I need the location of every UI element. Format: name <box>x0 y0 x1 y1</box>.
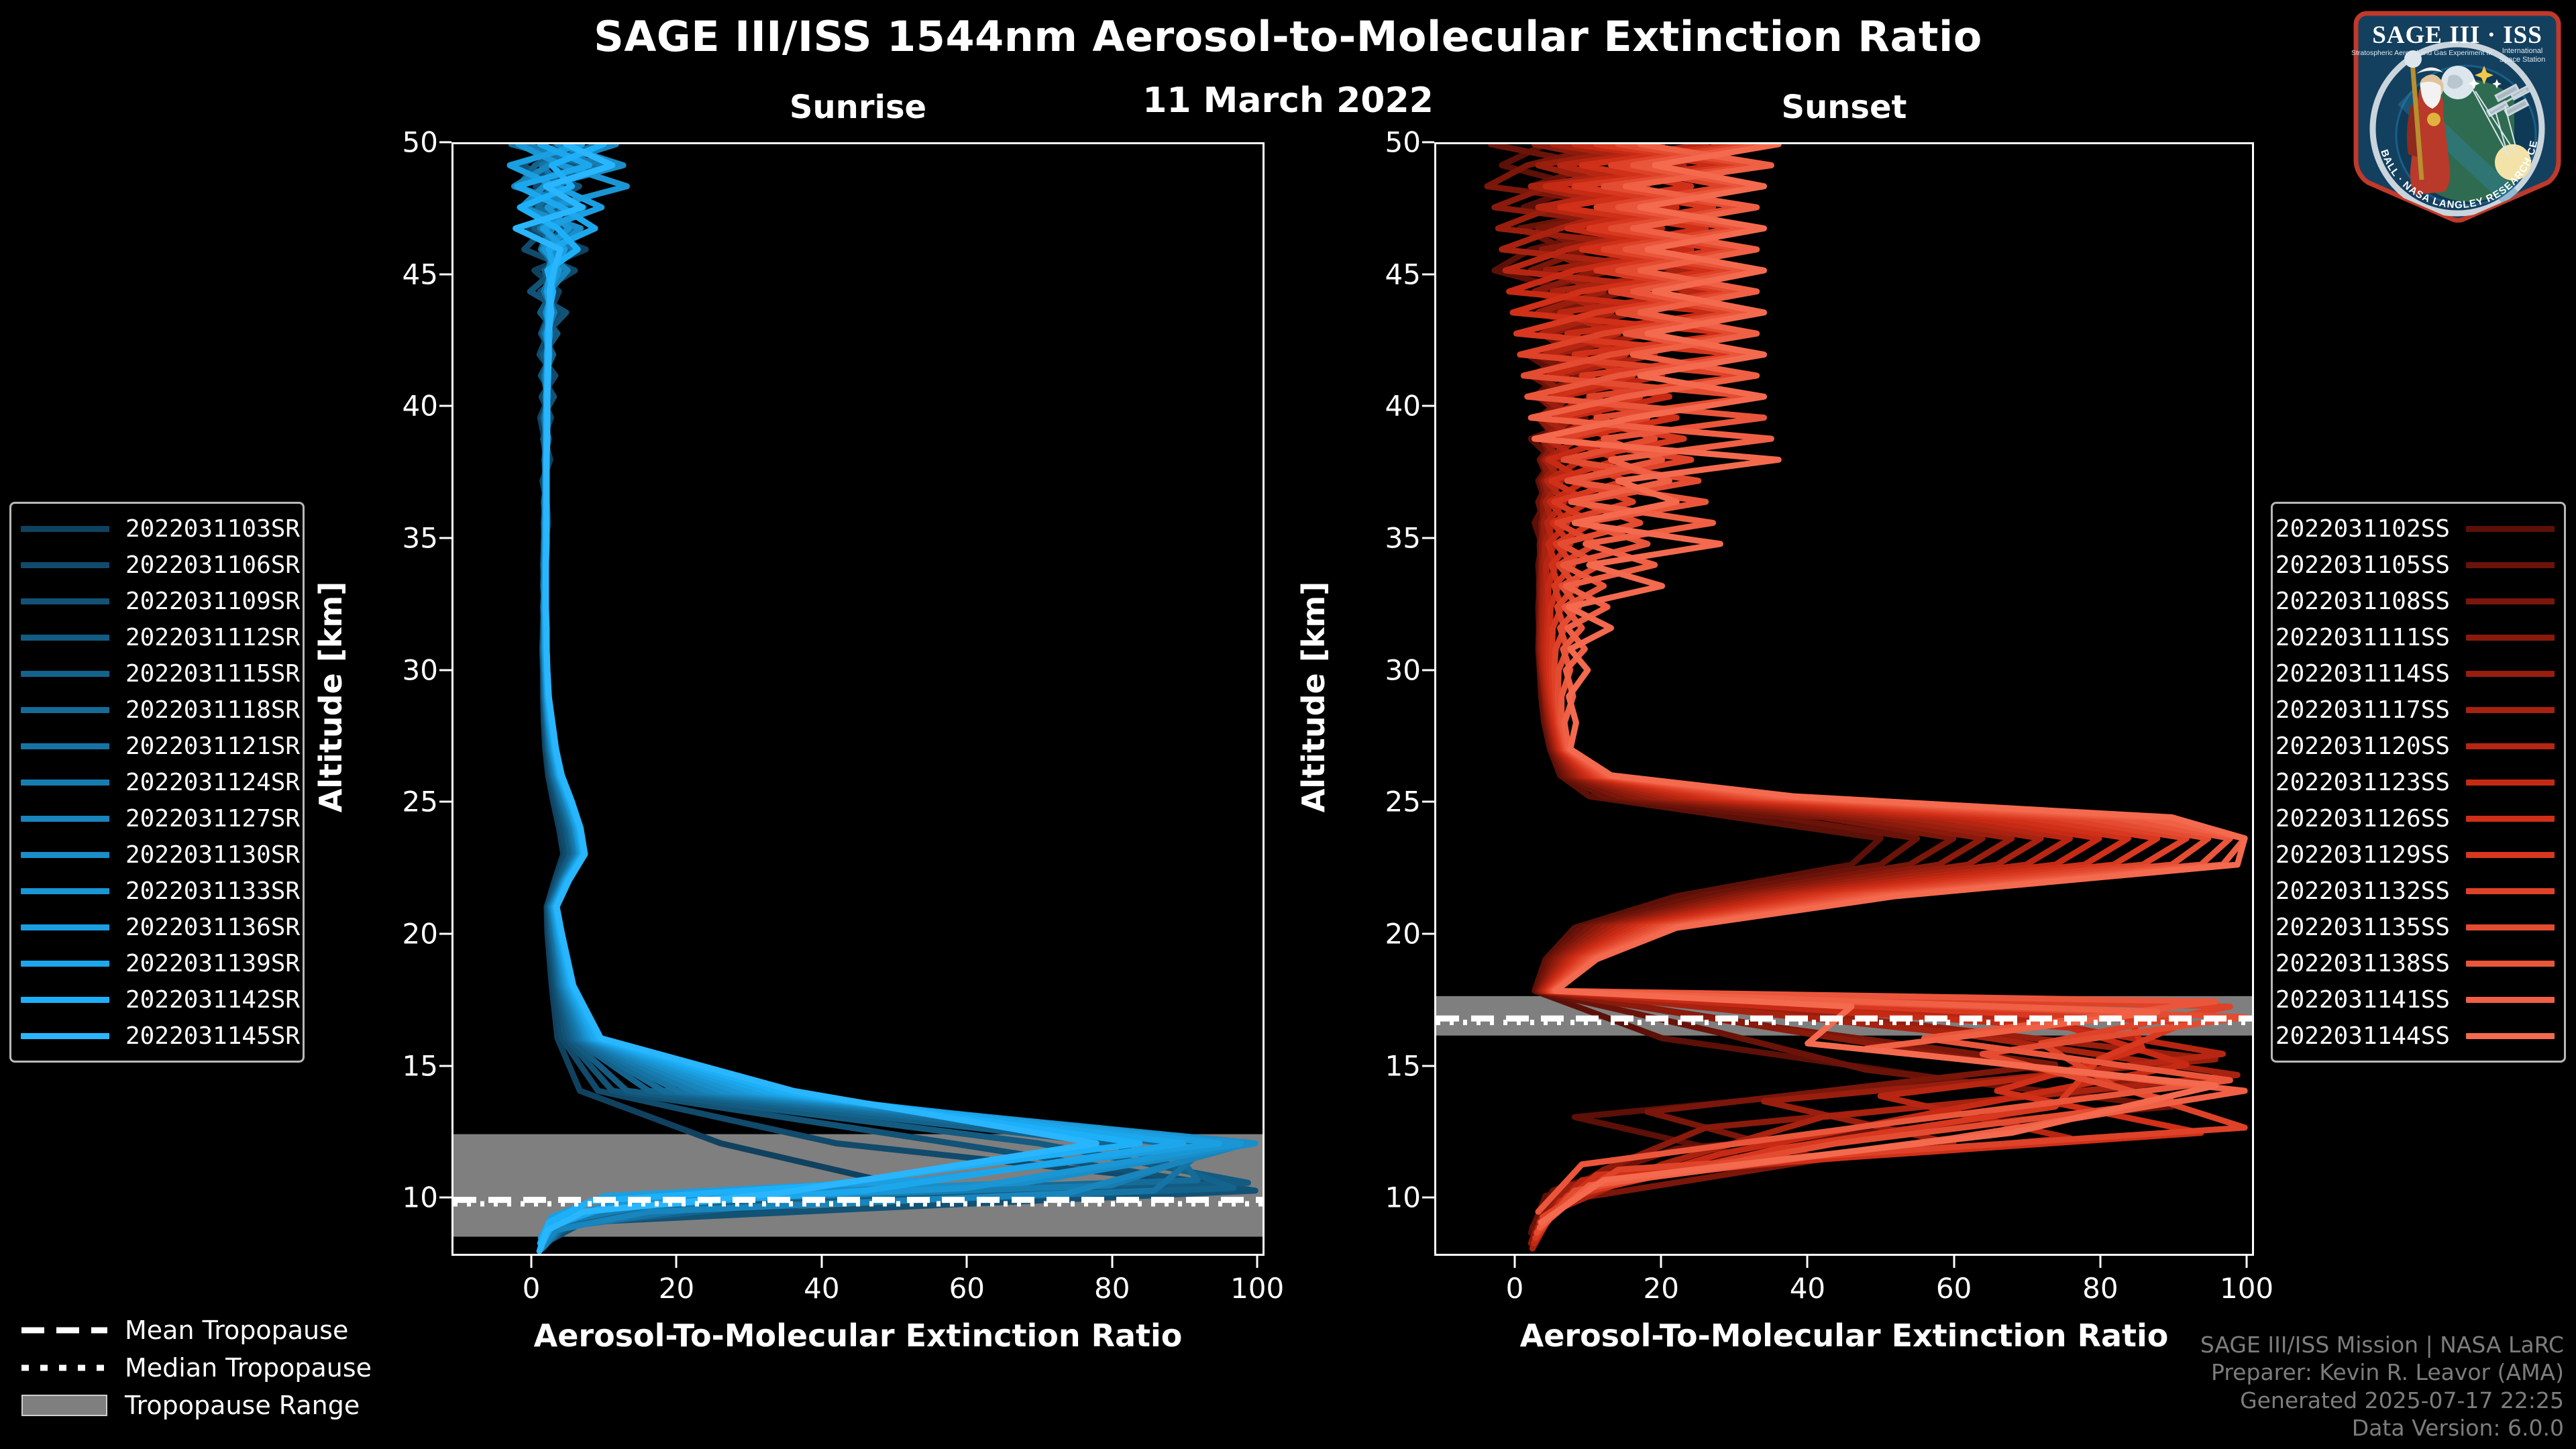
legend-label-2022031109SR: 2022031109SR <box>125 588 300 615</box>
plot-area-sunset <box>1434 142 2254 1256</box>
y-tick-label-sunset-15: 15 <box>1347 1049 1421 1082</box>
x-tick-label-sunrise-20: 20 <box>629 1272 723 1305</box>
x-tick-label-sunset-20: 20 <box>1614 1272 1708 1305</box>
y-axis-label-sunrise: Altitude [km] <box>313 556 349 838</box>
x-tick-label-sunrise-100: 100 <box>1210 1272 1304 1305</box>
legend-item-2022031120SS[interactable]: 2022031120SS <box>2282 728 2555 764</box>
y-tick-label-sunset-25: 25 <box>1347 786 1421 818</box>
legend-swatch-2022031117SS <box>2466 707 2555 713</box>
x-tick-mark-sunrise-100 <box>1256 1256 1258 1268</box>
legend-label-2022031142SR: 2022031142SR <box>125 986 300 1014</box>
profile-line-2022031118SR <box>511 144 1197 1238</box>
y-axis-label-sunset: Altitude [km] <box>1295 556 1332 838</box>
credits-line-version: Data Version: 6.0.0 <box>2200 1414 2564 1442</box>
y-tick-mark-sunset-10 <box>1422 1197 1434 1199</box>
x-tick-label-sunset-100: 100 <box>2200 1272 2294 1305</box>
legend-swatch-2022031133SR <box>21 888 109 894</box>
median-tropopause-label: Median Tropopause <box>125 1353 372 1383</box>
legend-item-2022031118SR[interactable]: 2022031118SR <box>21 692 293 728</box>
legend-item-2022031123SS[interactable]: 2022031123SS <box>2282 764 2555 800</box>
x-axis-label-sunrise: Aerosol-To-Molecular Extinction Ratio <box>451 1318 1265 1354</box>
y-tick-label-sunset-50: 50 <box>1347 126 1421 159</box>
median-tropopause-line-icon <box>21 1359 107 1377</box>
tropopause-legend: Mean Tropopause Median Tropopause Tropop… <box>13 1311 372 1424</box>
legend-swatch-2022031145SR <box>21 1033 109 1039</box>
y-tick-label-sunset-35: 35 <box>1347 522 1421 555</box>
legend-item-2022031124SR[interactable]: 2022031124SR <box>21 764 293 800</box>
x-axis-label-sunset: Aerosol-To-Molecular Extinction Ratio <box>1434 1318 2254 1354</box>
legend-item-2022031129SS[interactable]: 2022031129SS <box>2282 837 2555 873</box>
credits-line-mission: SAGE III/ISS Mission | NASA LaRC <box>2200 1331 2564 1359</box>
y-tick-label-sunrise-40: 40 <box>364 390 438 423</box>
x-tick-mark-sunset-40 <box>1807 1256 1809 1268</box>
legend-label-2022031108SS: 2022031108SS <box>2275 588 2450 615</box>
panel-title-sunrise: Sunrise <box>451 89 1265 126</box>
legend-swatch-2022031127SR <box>21 816 109 822</box>
legend-swatch-2022031126SS <box>2466 816 2555 822</box>
x-tick-label-sunrise-0: 0 <box>484 1272 578 1305</box>
mean-tropopause-label: Mean Tropopause <box>125 1316 348 1345</box>
y-tick-label-sunrise-15: 15 <box>364 1049 438 1082</box>
legend-item-2022031108SS[interactable]: 2022031108SS <box>2282 583 2555 619</box>
legend-label-2022031135SS: 2022031135SS <box>2275 914 2450 941</box>
y-tick-label-sunrise-20: 20 <box>364 918 438 951</box>
y-tick-label-sunrise-25: 25 <box>364 786 438 818</box>
legend-sunset[interactable]: 2022031102SS2022031105SS2022031108SS2022… <box>2271 502 2566 1063</box>
legend-swatch-2022031106SR <box>21 562 109 568</box>
x-tick-mark-sunrise-0 <box>531 1256 533 1268</box>
legend-swatch-2022031112SR <box>21 635 109 641</box>
legend-label-2022031103SR: 2022031103SR <box>125 515 300 543</box>
legend-item-2022031102SS[interactable]: 2022031102SS <box>2282 511 2555 547</box>
legend-item-2022031117SS[interactable]: 2022031117SS <box>2282 692 2555 728</box>
profile-line-2022031145SR <box>516 144 1097 1251</box>
y-tick-mark-sunset-15 <box>1422 1065 1434 1067</box>
legend-swatch-2022031132SS <box>2466 888 2555 894</box>
y-tick-mark-sunset-40 <box>1422 405 1434 407</box>
panel-title-sunset: Sunset <box>1434 89 2254 126</box>
legend-label-2022031117SS: 2022031117SS <box>2275 696 2450 724</box>
y-tick-mark-sunrise-35 <box>439 537 451 539</box>
legend-swatch-2022031115SR <box>21 671 109 677</box>
legend-item-2022031144SS[interactable]: 2022031144SS <box>2282 1018 2555 1054</box>
y-tick-mark-sunrise-30 <box>439 669 451 671</box>
legend-label-2022031144SS: 2022031144SS <box>2275 1022 2450 1050</box>
y-tick-label-sunset-40: 40 <box>1347 390 1421 423</box>
legend-label-2022031106SR: 2022031106SR <box>125 551 300 579</box>
y-tick-mark-sunset-45 <box>1422 273 1434 275</box>
y-tick-mark-sunrise-40 <box>439 405 451 407</box>
legend-swatch-2022031105SS <box>2466 562 2555 568</box>
legend-swatch-2022031130SR <box>21 852 109 858</box>
legend-item-2022031105SS[interactable]: 2022031105SS <box>2282 547 2555 583</box>
y-tick-label-sunset-10: 10 <box>1347 1181 1421 1214</box>
tropopause-range-swatch-icon <box>21 1395 107 1416</box>
legend-label-2022031138SS: 2022031138SS <box>2275 950 2450 977</box>
legend-swatch-2022031135SS <box>2466 924 2555 930</box>
legend-item-2022031141SS[interactable]: 2022031141SS <box>2282 981 2555 1018</box>
y-tick-label-sunrise-10: 10 <box>364 1181 438 1214</box>
legend-label-2022031139SR: 2022031139SR <box>125 950 300 977</box>
legend-item-2022031112SR[interactable]: 2022031112SR <box>21 619 293 655</box>
credits-block: SAGE III/ISS Mission | NASA LaRC Prepare… <box>2200 1331 2564 1442</box>
legend-item-2022031138SS[interactable]: 2022031138SS <box>2282 945 2555 981</box>
legend-label-2022031111SS: 2022031111SS <box>2275 624 2450 651</box>
x-tick-mark-sunset-20 <box>1660 1256 1662 1268</box>
profile-line-2022031127SR <box>514 144 1248 1248</box>
legend-label-2022031129SS: 2022031129SS <box>2275 841 2450 869</box>
tropopause-range-label: Tropopause Range <box>125 1391 360 1420</box>
y-tick-mark-sunset-20 <box>1422 933 1434 935</box>
legend-label-2022031133SR: 2022031133SR <box>125 877 300 905</box>
tropopause-legend-median: Median Tropopause <box>13 1349 372 1387</box>
legend-label-2022031127SR: 2022031127SR <box>125 805 300 833</box>
legend-swatch-2022031123SS <box>2466 780 2555 786</box>
legend-swatch-2022031109SR <box>21 598 109 604</box>
legend-swatch-2022031121SR <box>21 743 109 749</box>
legend-item-2022031115SR[interactable]: 2022031115SR <box>21 655 293 692</box>
legend-label-2022031123SS: 2022031123SS <box>2275 769 2450 796</box>
legend-swatch-2022031139SR <box>21 961 109 967</box>
legend-item-2022031126SS[interactable]: 2022031126SS <box>2282 800 2555 837</box>
legend-swatch-2022031103SR <box>21 526 109 532</box>
legend-label-2022031132SS: 2022031132SS <box>2275 877 2450 905</box>
x-tick-mark-sunset-60 <box>1953 1256 1955 1268</box>
credits-line-generated: Generated 2025-07-17 22:25 <box>2200 1387 2564 1415</box>
mean-tropopause-line-icon <box>21 1322 107 1339</box>
profile-line-2022031133SR <box>519 144 1241 1246</box>
svg-text:International: International <box>2502 47 2543 55</box>
legend-item-2022031127SR[interactable]: 2022031127SR <box>21 800 293 837</box>
svg-text:Stratospheric Aerosol and Gas: Stratospheric Aerosol and Gas Experiment… <box>2351 49 2492 57</box>
y-tick-mark-sunrise-20 <box>439 933 451 935</box>
x-tick-mark-sunrise-80 <box>1111 1256 1113 1268</box>
legend-label-2022031120SS: 2022031120SS <box>2275 733 2450 760</box>
legend-swatch-2022031136SR <box>21 924 109 930</box>
legend-label-2022031126SS: 2022031126SS <box>2275 805 2450 833</box>
y-tick-mark-sunset-50 <box>1422 142 1434 144</box>
y-tick-mark-sunset-35 <box>1422 537 1434 539</box>
legend-label-2022031141SS: 2022031141SS <box>2275 986 2450 1014</box>
credits-line-preparer: Preparer: Kevin R. Leavor (AMA) <box>2200 1358 2564 1387</box>
y-tick-mark-sunrise-50 <box>439 142 451 144</box>
y-tick-mark-sunset-30 <box>1422 669 1434 671</box>
y-tick-label-sunrise-50: 50 <box>364 126 438 159</box>
y-tick-label-sunrise-30: 30 <box>364 653 438 686</box>
legend-label-2022031121SR: 2022031121SR <box>125 733 300 760</box>
x-tick-label-sunrise-40: 40 <box>775 1272 869 1305</box>
legend-label-2022031114SS: 2022031114SS <box>2275 660 2450 688</box>
x-tick-label-sunrise-60: 60 <box>920 1272 1014 1305</box>
legend-swatch-2022031120SS <box>2466 743 2555 749</box>
x-tick-mark-sunset-0 <box>1514 1256 1516 1268</box>
x-tick-mark-sunset-80 <box>2099 1256 2101 1268</box>
legend-item-2022031103SR[interactable]: 2022031103SR <box>21 511 293 547</box>
legend-swatch-2022031108SS <box>2466 598 2555 604</box>
y-tick-label-sunrise-45: 45 <box>364 258 438 290</box>
legend-swatch-2022031118SR <box>21 707 109 713</box>
y-tick-mark-sunrise-45 <box>439 273 451 275</box>
y-tick-label-sunset-45: 45 <box>1347 258 1421 290</box>
legend-item-2022031145SR[interactable]: 2022031145SR <box>21 1018 293 1054</box>
legend-sunrise[interactable]: 2022031103SR2022031106SR2022031109SR2022… <box>9 502 305 1063</box>
legend-label-2022031118SR: 2022031118SR <box>125 696 300 724</box>
legend-item-2022031114SS[interactable]: 2022031114SS <box>2282 655 2555 692</box>
legend-label-2022031102SS: 2022031102SS <box>2275 515 2450 543</box>
tropopause-legend-range: Tropopause Range <box>13 1387 372 1424</box>
legend-item-2022031136SR[interactable]: 2022031136SR <box>21 909 293 945</box>
figure-root: SAGE III/ISS 1544nm Aerosol-to-Molecular… <box>0 0 2576 1449</box>
profile-chart-sunrise <box>453 144 1263 1254</box>
profile-chart-sunset <box>1436 144 2252 1254</box>
legend-swatch-2022031141SS <box>2466 997 2555 1003</box>
legend-item-2022031121SR[interactable]: 2022031121SR <box>21 728 293 764</box>
plot-area-sunrise <box>451 142 1265 1256</box>
legend-item-2022031111SS[interactable]: 2022031111SS <box>2282 619 2555 655</box>
y-tick-label-sunset-20: 20 <box>1347 918 1421 951</box>
legend-label-2022031124SR: 2022031124SR <box>125 769 300 796</box>
legend-swatch-2022031102SS <box>2466 526 2555 532</box>
y-tick-mark-sunrise-10 <box>439 1197 451 1199</box>
legend-label-2022031112SR: 2022031112SR <box>125 624 300 651</box>
legend-item-2022031106SR[interactable]: 2022031106SR <box>21 547 293 583</box>
legend-swatch-2022031111SS <box>2466 635 2555 641</box>
y-tick-mark-sunrise-15 <box>439 1065 451 1067</box>
profile-line-2022031136SR <box>510 144 1219 1238</box>
x-tick-mark-sunrise-20 <box>676 1256 678 1268</box>
y-tick-label-sunset-30: 30 <box>1347 653 1421 686</box>
svg-text:Space Station: Space Station <box>2500 56 2546 64</box>
legend-swatch-2022031142SR <box>21 997 109 1003</box>
x-tick-label-sunset-40: 40 <box>1760 1272 1854 1305</box>
x-tick-label-sunset-0: 0 <box>1468 1272 1562 1305</box>
x-tick-label-sunset-60: 60 <box>1907 1272 2001 1305</box>
profile-line-2022031121SR <box>526 144 1212 1248</box>
page-title: SAGE III/ISS 1544nm Aerosol-to-Molecular… <box>0 12 2576 61</box>
legend-item-2022031109SR[interactable]: 2022031109SR <box>21 583 293 619</box>
y-tick-mark-sunset-25 <box>1422 801 1434 803</box>
legend-label-2022031105SS: 2022031105SS <box>2275 551 2450 579</box>
sage-iii-iss-mission-patch-icon: BALL · NASA LANGLEY RESEARCH CENTER · TA… <box>2347 4 2568 225</box>
legend-item-2022031135SS[interactable]: 2022031135SS <box>2282 909 2555 945</box>
legend-label-2022031145SR: 2022031145SR <box>125 1022 300 1050</box>
y-tick-label-sunrise-35: 35 <box>364 522 438 555</box>
legend-label-2022031136SR: 2022031136SR <box>125 914 300 941</box>
legend-item-2022031142SR[interactable]: 2022031142SR <box>21 981 293 1018</box>
legend-label-2022031115SR: 2022031115SR <box>125 660 300 688</box>
legend-item-2022031130SR[interactable]: 2022031130SR <box>21 837 293 873</box>
x-tick-label-sunrise-80: 80 <box>1065 1272 1159 1305</box>
profile-line-2022031115SR <box>519 144 1234 1246</box>
legend-swatch-2022031129SS <box>2466 852 2555 858</box>
legend-swatch-2022031144SS <box>2466 1033 2555 1039</box>
tropopause-legend-mean: Mean Tropopause <box>13 1311 372 1349</box>
y-tick-mark-sunrise-25 <box>439 801 451 803</box>
svg-text:SAGE III · ISS: SAGE III · ISS <box>2372 21 2542 49</box>
legend-item-2022031133SR[interactable]: 2022031133SR <box>21 873 293 909</box>
legend-label-2022031130SR: 2022031130SR <box>125 841 300 869</box>
legend-item-2022031132SS[interactable]: 2022031132SS <box>2282 873 2555 909</box>
legend-swatch-2022031138SS <box>2466 961 2555 967</box>
x-tick-mark-sunrise-40 <box>820 1256 822 1268</box>
x-tick-mark-sunrise-60 <box>966 1256 968 1268</box>
legend-swatch-2022031124SR <box>21 780 109 786</box>
legend-swatch-2022031114SS <box>2466 671 2555 677</box>
x-tick-label-sunset-80: 80 <box>2053 1272 2147 1305</box>
x-tick-mark-sunset-100 <box>2246 1256 2248 1268</box>
legend-item-2022031139SR[interactable]: 2022031139SR <box>21 945 293 981</box>
